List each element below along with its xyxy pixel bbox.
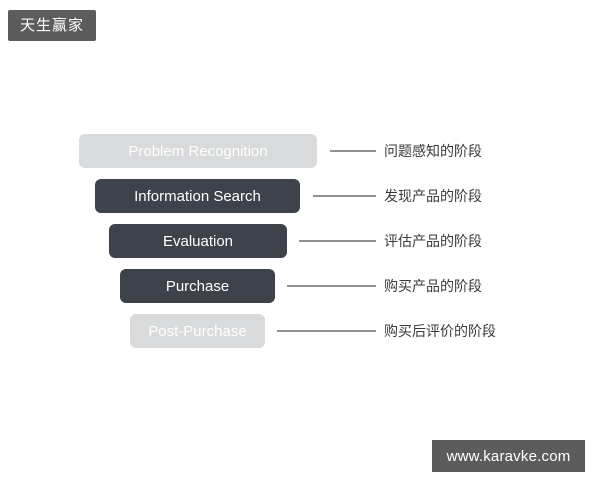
funnel-stage-label: Information Search — [134, 189, 261, 204]
funnel-stage-label: Post-Purchase — [148, 324, 246, 339]
funnel-stage-bar-information-search[interactable]: Information Search — [95, 179, 300, 213]
funnel-stage-row: Post-Purchase 购买后评价的阶段 — [0, 314, 600, 359]
funnel-connector-line — [299, 240, 376, 242]
funnel-stage-description: 评估产品的阶段 — [384, 232, 482, 250]
funnel-stage-label: Evaluation — [163, 234, 233, 249]
funnel-stage-bar-evaluation[interactable]: Evaluation — [109, 224, 287, 258]
brand-badge-label: 天生赢家 — [20, 18, 84, 33]
funnel-connector-line — [330, 150, 376, 152]
funnel-connector-line — [287, 285, 376, 287]
funnel-stage-row: Information Search 发现产品的阶段 — [0, 179, 600, 224]
funnel-stage-description: 购买产品的阶段 — [384, 277, 482, 295]
funnel-stage-row: Evaluation 评估产品的阶段 — [0, 224, 600, 269]
funnel-stage-description: 问题感知的阶段 — [384, 142, 482, 160]
funnel-stage-description: 购买后评价的阶段 — [384, 322, 496, 340]
funnel-stage-label: Purchase — [166, 279, 229, 294]
site-watermark-label: www.karavke.com — [447, 449, 571, 464]
funnel-connector-line — [277, 330, 376, 332]
funnel-diagram: Problem Recognition 问题感知的阶段 Information … — [0, 134, 600, 359]
site-watermark: www.karavke.com — [432, 440, 585, 472]
funnel-connector-line — [313, 195, 376, 197]
brand-badge: 天生赢家 — [8, 10, 96, 41]
funnel-stage-row: Problem Recognition 问题感知的阶段 — [0, 134, 600, 179]
funnel-stage-row: Purchase 购买产品的阶段 — [0, 269, 600, 314]
funnel-stage-bar-post-purchase[interactable]: Post-Purchase — [130, 314, 265, 348]
funnel-stage-bar-problem-recognition[interactable]: Problem Recognition — [79, 134, 317, 168]
funnel-stage-label: Problem Recognition — [128, 144, 267, 159]
funnel-stage-description: 发现产品的阶段 — [384, 187, 482, 205]
funnel-stage-bar-purchase[interactable]: Purchase — [120, 269, 275, 303]
